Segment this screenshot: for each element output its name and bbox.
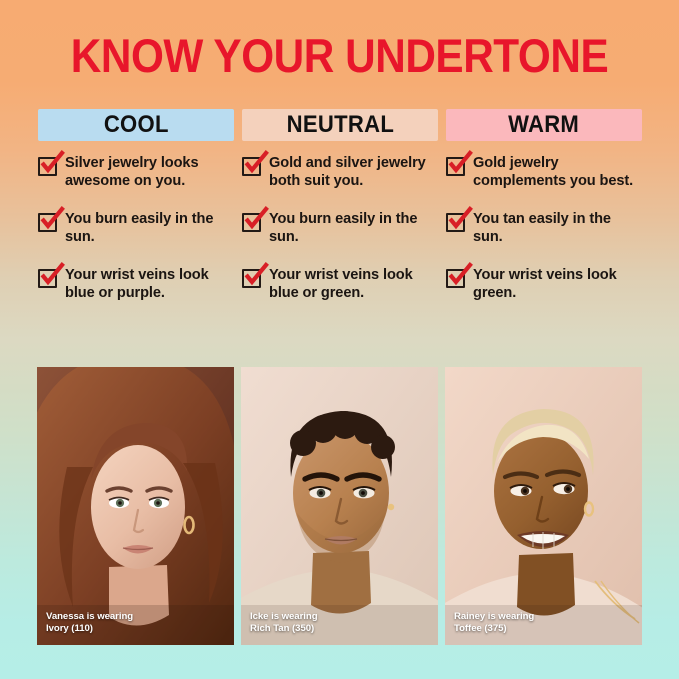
- check-item: You burn easily in the sun.: [38, 211, 234, 246]
- checkmark-icon: [242, 213, 261, 232]
- check-item-label: You tan easily in the sun.: [473, 211, 642, 246]
- undertone-columns: COOL Silver jewelry looks awesome on you…: [38, 109, 642, 319]
- column-neutral: NEUTRAL Gold and silver jewelry both sui…: [242, 109, 438, 319]
- check-item-label: You burn easily in the sun.: [269, 211, 438, 246]
- undertone-infographic: KNOW YOUR UNDERTONE COOL Silver jewelry …: [0, 0, 679, 679]
- check-item-label: You burn easily in the sun.: [65, 211, 234, 246]
- check-item-label: Your wrist veins look blue or green.: [269, 267, 438, 302]
- column-header-cool-label: COOL: [104, 111, 169, 139]
- column-header-neutral-label: NEUTRAL: [286, 111, 393, 139]
- column-cool: COOL Silver jewelry looks awesome on you…: [38, 109, 234, 319]
- photo-caption-vanessa: Vanessa is wearing Ivory (110): [46, 611, 133, 634]
- model-photos: Vanessa is wearing Ivory (110): [37, 367, 642, 645]
- checkmark-icon: [242, 157, 261, 176]
- check-item: Your wrist veins look blue or purple.: [38, 267, 234, 302]
- checkmark-icon: [446, 269, 465, 288]
- model-photo-vanessa: Vanessa is wearing Ivory (110): [37, 367, 234, 645]
- check-item-label: Silver jewelry looks awesome on you.: [65, 155, 234, 190]
- checklist-warm: Gold jewelry complements you best. You t…: [446, 155, 642, 302]
- checkmark-icon: [38, 213, 57, 232]
- caption-line-2: Toffee (375): [454, 623, 534, 635]
- checklist-neutral: Gold and silver jewelry both suit you. Y…: [242, 155, 438, 302]
- column-warm: WARM Gold jewelry complements you best.: [446, 109, 642, 319]
- check-item: Silver jewelry looks awesome on you.: [38, 155, 234, 190]
- caption-line-1: Vanessa is wearing: [46, 611, 133, 623]
- checklist-cool: Silver jewelry looks awesome on you. You…: [38, 155, 234, 302]
- check-item-label: Gold and silver jewelry both suit you.: [269, 155, 438, 190]
- caption-line-2: Ivory (110): [46, 623, 133, 635]
- column-header-warm-label: WARM: [508, 111, 579, 139]
- check-item: Your wrist veins look green.: [446, 267, 642, 302]
- model-photo-rainey: Rainey is wearing Toffee (375): [445, 367, 642, 645]
- checkmark-icon: [446, 157, 465, 176]
- checkmark-icon: [446, 213, 465, 232]
- portrait-image-rainey: [445, 367, 642, 645]
- check-item: You burn easily in the sun.: [242, 211, 438, 246]
- column-header-neutral: NEUTRAL: [242, 109, 438, 141]
- check-item-label: Your wrist veins look green.: [473, 267, 642, 302]
- checkmark-icon: [38, 269, 57, 288]
- check-item-label: Your wrist veins look blue or purple.: [65, 267, 234, 302]
- check-item-label: Gold jewelry complements you best.: [473, 155, 642, 190]
- check-item: You tan easily in the sun.: [446, 211, 642, 246]
- caption-line-1: Icke is wearing: [250, 611, 318, 623]
- checkmark-icon: [38, 157, 57, 176]
- checkmark-icon: [242, 269, 261, 288]
- column-header-cool: COOL: [38, 109, 234, 141]
- caption-line-1: Rainey is wearing: [454, 611, 534, 623]
- portrait-image-icke: [241, 367, 438, 645]
- check-item: Gold and silver jewelry both suit you.: [242, 155, 438, 190]
- photo-caption-rainey: Rainey is wearing Toffee (375): [454, 611, 534, 634]
- caption-line-2: Rich Tan (350): [250, 623, 318, 635]
- portrait-image-vanessa: [37, 367, 234, 645]
- check-item: Your wrist veins look blue or green.: [242, 267, 438, 302]
- column-header-warm: WARM: [446, 109, 642, 141]
- check-item: Gold jewelry complements you best.: [446, 155, 642, 190]
- photo-caption-icke: Icke is wearing Rich Tan (350): [250, 611, 318, 634]
- model-photo-icke: Icke is wearing Rich Tan (350): [241, 367, 438, 645]
- page-title: KNOW YOUR UNDERTONE: [34, 31, 645, 81]
